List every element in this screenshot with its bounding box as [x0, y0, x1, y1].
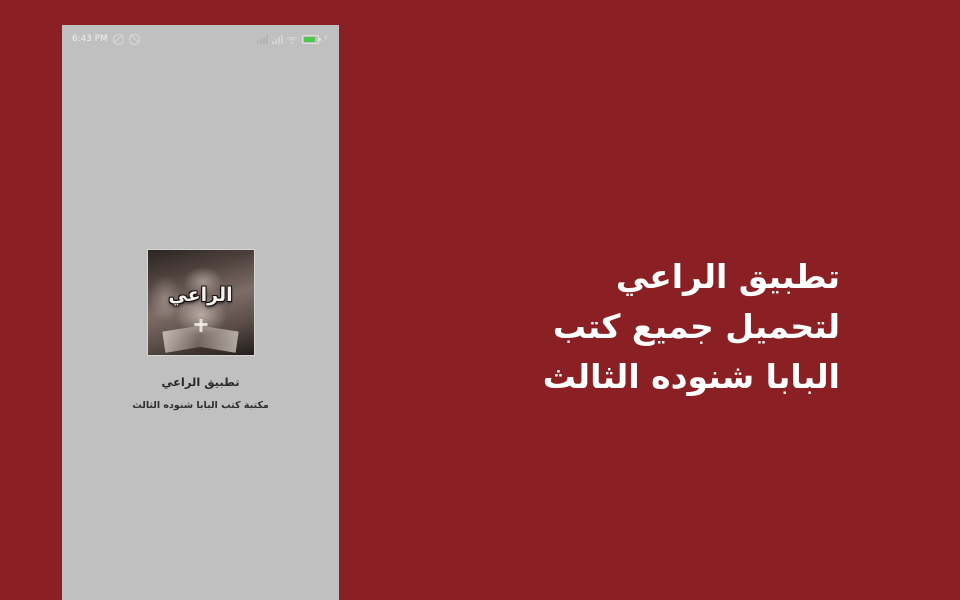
wifi-icon — [287, 35, 298, 44]
headline-line-2: لتحميل جميع كتب — [420, 302, 840, 352]
status-bar-clock: 6:43 PM — [72, 34, 108, 44]
battery-icon — [302, 35, 319, 44]
headline-line-1: تطبيق الراعي — [420, 252, 840, 302]
status-bar: 6:43 PM ⚡ — [62, 25, 339, 53]
signal-bars-sim1-icon — [257, 35, 268, 44]
headline-line-3: البابا شنوده الثالث — [420, 352, 840, 402]
do-not-disturb-icon — [129, 34, 140, 45]
app-subtitle: مكتبة كتب البابا شنوده الثالث — [62, 400, 339, 411]
promo-headline: تطبيق الراعي لتحميل جميع كتب البابا شنود… — [420, 252, 840, 402]
cross-icon — [199, 319, 202, 332]
charging-bolt-icon: ⚡ — [323, 35, 329, 44]
app-icon[interactable]: الراعي — [148, 250, 254, 355]
signal-bars-sim2-icon — [272, 35, 283, 44]
phone-mockup: 6:43 PM ⚡ — [62, 25, 339, 600]
app-icon-overlay-label: الراعي — [148, 286, 254, 305]
status-bar-left: 6:43 PM — [72, 34, 140, 45]
mute-icon — [113, 34, 124, 45]
battery-fill — [304, 37, 315, 42]
status-bar-right: ⚡ — [257, 35, 329, 44]
app-listing: الراعي تطبيق الراعي مكتبة كتب البابا شنو… — [62, 250, 339, 411]
promo-canvas: 6:43 PM ⚡ — [0, 0, 960, 600]
app-title: تطبيق الراعي — [62, 375, 339, 389]
